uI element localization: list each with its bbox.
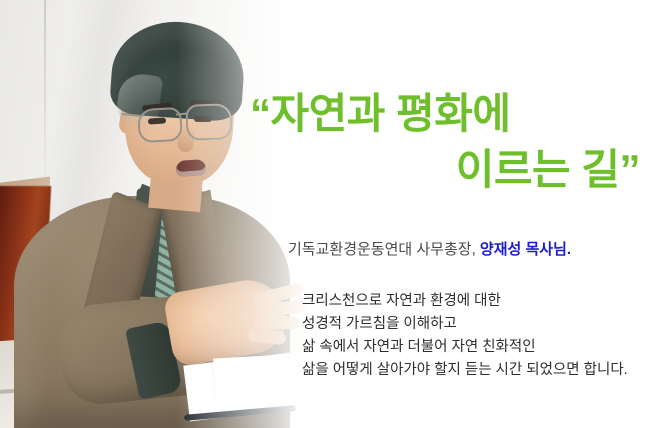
body-line: 성경적 가르침을 이해하고 [302, 313, 628, 336]
finger [254, 316, 300, 330]
headline-line-1: “자연과 평화에 [250, 86, 640, 142]
eyeglasses-lens-left [137, 107, 183, 143]
speaker-name: 양재성 목사님. [480, 241, 571, 258]
eyeglasses-lens-right [185, 103, 232, 141]
body-description: 크리스천으로 자연과 환경에 대한 성경적 가르침을 이해하고 삶 속에서 자연… [302, 290, 628, 382]
speaker-photo [0, 0, 340, 428]
mouth [175, 159, 206, 177]
headline-quote: “자연과 평화에 이르는 길” [250, 86, 640, 198]
body-line: 크리스천으로 자연과 환경에 대한 [302, 290, 628, 313]
body-line: 삶을 어떻게 살아가야 할지 듣는 시간 되었으면 합니다. [302, 359, 628, 382]
speaker-credit: 기독교환경운동연대 사무총장, 양재성 목사님. [288, 238, 571, 259]
body-line: 삶 속에서 자연과 더불어 자연 친화적인 [302, 336, 628, 359]
headline-line-2: 이르는 길” [250, 142, 640, 198]
speaker-organization: 기독교환경운동연대 사무총장, [288, 241, 476, 258]
interview-banner: “자연과 평화에 이르는 길” 기독교환경운동연대 사무총장, 양재성 목사님.… [0, 0, 650, 428]
wall-corner-edge [44, 0, 46, 200]
